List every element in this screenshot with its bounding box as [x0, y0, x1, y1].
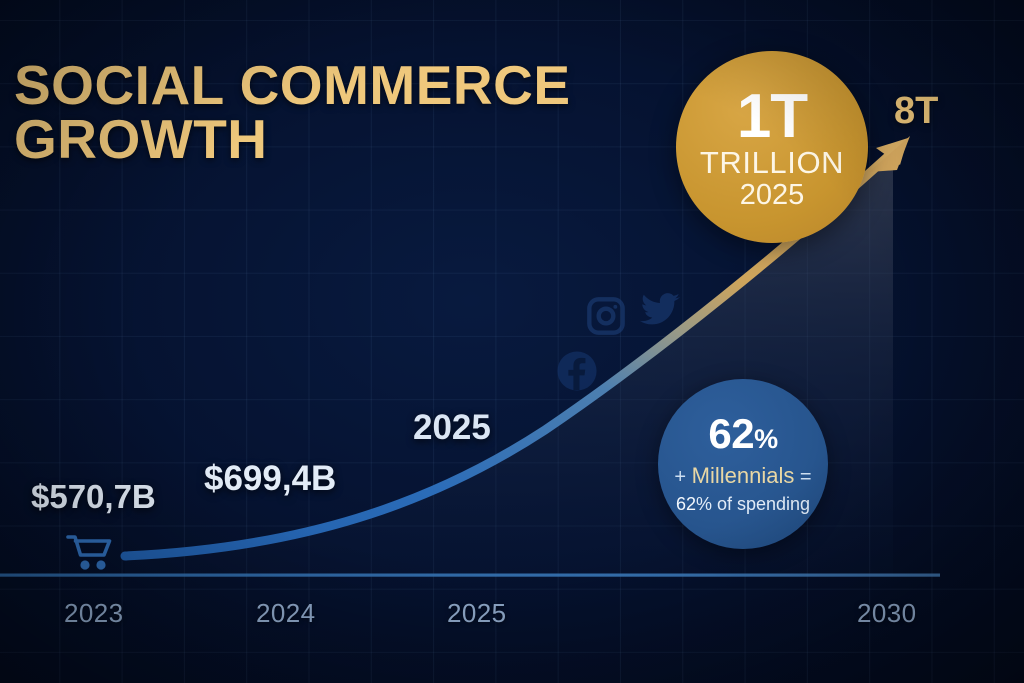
gold-badge-year: 2025	[740, 180, 805, 212]
blue-badge-subtitle-emphasis: Millennials	[692, 463, 795, 488]
blue-badge-detail: 62% of spending	[676, 494, 810, 515]
blue-badge-value: 62%	[708, 413, 777, 455]
blue-badge-subtitle-prefix: +	[674, 466, 691, 488]
blue-badge-subtitle: + Millennials =	[674, 463, 811, 489]
millennials-stat-badge[interactable]: 62% + Millennials = 62% of spending	[658, 379, 828, 549]
instagram-icon	[586, 296, 626, 341]
data-label-2024: $699,4B	[204, 459, 336, 499]
blue-badge-number: 62	[708, 410, 754, 457]
page-title: SOCIAL COMMERCE GROWTH	[14, 58, 614, 167]
x-axis-tick-2024: 2024	[256, 598, 315, 629]
blue-badge-subtitle-suffix: =	[794, 466, 811, 488]
facebook-icon	[554, 348, 600, 399]
x-axis-line	[0, 574, 940, 577]
blue-badge-percent-sign: %	[754, 424, 778, 454]
shopping-cart-icon	[66, 533, 120, 578]
blue-badge-detail-number: 62	[676, 494, 696, 514]
data-label-2023: $570,7B	[31, 478, 156, 516]
x-axis-tick-2023: 2023	[64, 598, 123, 629]
data-label-2025: 2025	[413, 408, 491, 448]
gold-badge-unit: TRILLION	[700, 147, 844, 180]
gold-milestone-badge[interactable]: 1T TRILLION 2025	[676, 51, 868, 243]
endpoint-value-label: 8T	[894, 90, 938, 133]
twitter-bird-icon	[638, 288, 682, 337]
gold-badge-value: 1T	[737, 88, 807, 145]
x-axis-tick-2030: 2030	[857, 598, 916, 629]
blue-badge-detail-rest: % of spending	[696, 494, 810, 514]
x-axis-tick-2025: 2025	[447, 598, 506, 629]
infographic-canvas: SOCIAL COMMERCE GROWTH 1T TRILLION 2025 …	[0, 0, 1024, 683]
